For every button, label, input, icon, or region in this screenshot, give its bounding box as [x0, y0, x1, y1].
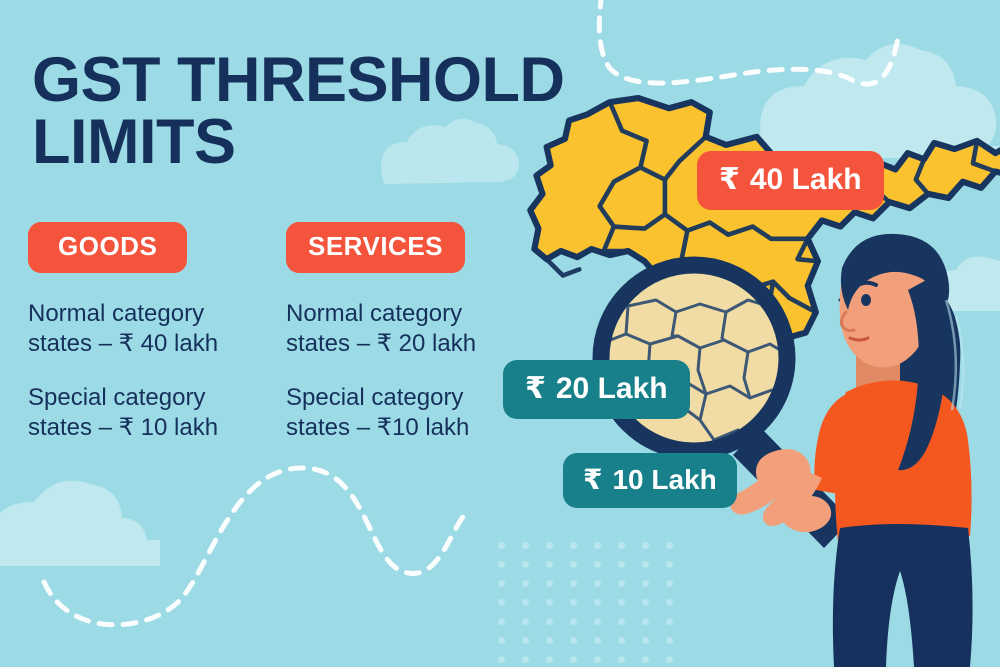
badge-goods: GOODS — [28, 222, 187, 273]
rupee-icon: ₹ — [719, 162, 740, 197]
dot-grid — [498, 542, 668, 658]
infographic-canvas: GST THRESHOLD LIMITS GOODS Normal catego… — [0, 0, 1000, 667]
cloud-bottom-left — [0, 481, 160, 566]
woman-holding-magnifier — [730, 234, 972, 667]
callout-20-lakh: ₹ 20 Lakh — [503, 360, 690, 419]
cloud-right-edge — [932, 257, 1000, 312]
goods-normal-category: Normal category states – ₹ 40 lakh — [28, 299, 268, 359]
services-normal-category: Normal category states – ₹ 20 lakh — [286, 299, 536, 359]
column-services: SERVICES Normal category states – ₹ 20 l… — [286, 222, 536, 443]
page-title: GST THRESHOLD LIMITS — [32, 50, 632, 173]
services-special-category: Special category states – ₹10 lakh — [286, 383, 536, 443]
callout-40-lakh-amount: 40 Lakh — [750, 163, 862, 197]
callout-10-lakh: ₹ 10 Lakh — [563, 453, 737, 508]
callout-20-lakh-amount: 20 Lakh — [556, 372, 668, 406]
badge-services: SERVICES — [286, 222, 465, 273]
column-goods: GOODS Normal category states – ₹ 40 lakh… — [28, 222, 268, 443]
callout-10-lakh-amount: 10 Lakh — [612, 464, 716, 496]
dashed-path-bottom — [44, 468, 470, 625]
dashed-path-top — [599, 0, 898, 84]
goods-text-block: Normal category states – ₹ 40 lakh Speci… — [28, 299, 268, 443]
rupee-icon: ₹ — [583, 463, 602, 496]
callout-40-lakh: ₹ 40 Lakh — [697, 151, 884, 210]
cloud-top-right — [760, 44, 1000, 158]
rupee-icon: ₹ — [525, 371, 546, 406]
services-text-block: Normal category states – ₹ 20 lakh Speci… — [286, 299, 536, 443]
goods-special-category: Special category states – ₹ 10 lakh — [28, 383, 268, 443]
